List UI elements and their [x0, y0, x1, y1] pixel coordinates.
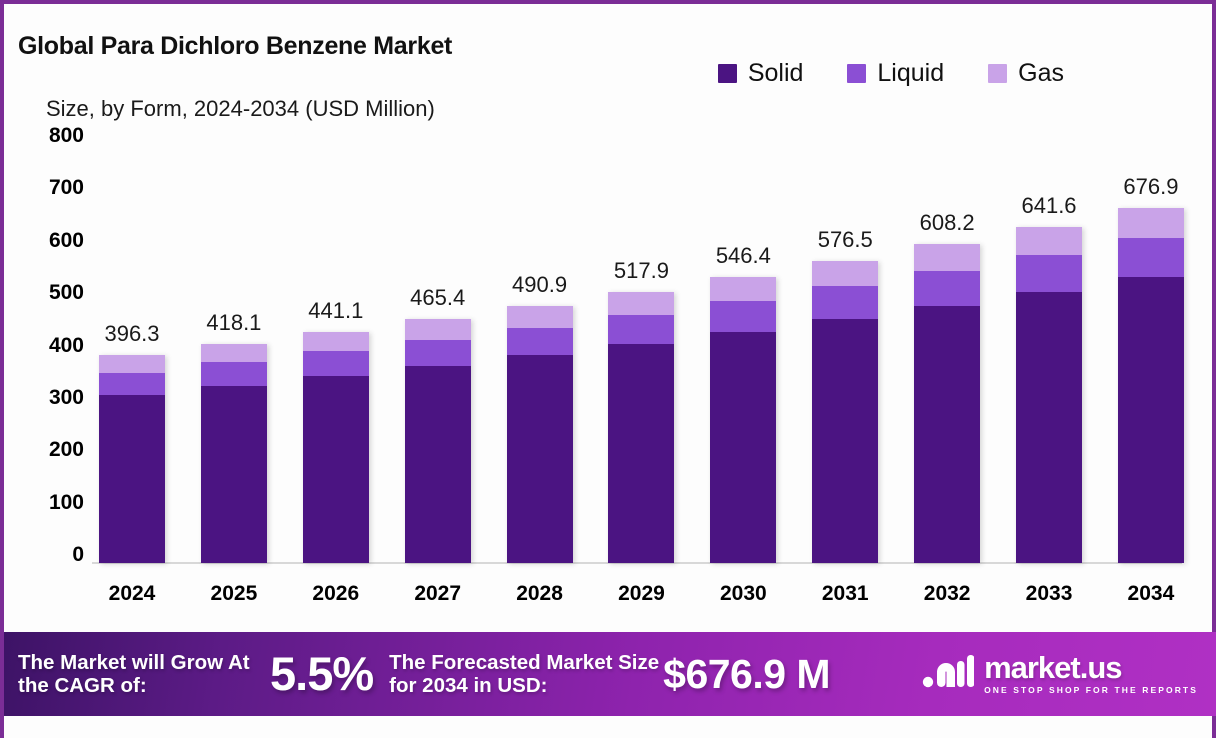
- x-axis-tick-2031: 2031: [812, 582, 878, 606]
- legend-label: Gas: [1018, 59, 1064, 88]
- x-axis-tick-2029: 2029: [608, 582, 674, 606]
- bar-stack[interactable]: [507, 306, 573, 563]
- bar-segment-solid[interactable]: [201, 386, 267, 563]
- cagr-value: 5.5%: [270, 647, 373, 700]
- bar-segment-solid[interactable]: [812, 319, 878, 563]
- bar-segment-liquid[interactable]: [405, 340, 471, 366]
- y-axis-tick: 300: [49, 386, 84, 410]
- bar-segment-liquid[interactable]: [608, 315, 674, 344]
- legend-item-liquid[interactable]: Liquid: [847, 59, 944, 88]
- legend-item-solid[interactable]: Solid: [718, 59, 804, 88]
- y-axis: 8007006005004003002001000: [4, 136, 84, 568]
- bar-segment-liquid[interactable]: [914, 271, 980, 305]
- bar-segment-liquid[interactable]: [812, 286, 878, 319]
- bar-segment-gas[interactable]: [405, 319, 471, 339]
- logo-text: market.us ONE STOP SHOP FOR THE REPORTS: [984, 652, 1198, 695]
- y-axis-tick: 400: [49, 334, 84, 358]
- bar-segment-gas[interactable]: [507, 306, 573, 328]
- infographic-frame: Global Para Dichloro Benzene Market Size…: [0, 0, 1216, 738]
- legend-label: Liquid: [877, 59, 944, 88]
- bar-total-label: 490.9: [512, 272, 567, 298]
- bar-stack[interactable]: [710, 277, 776, 563]
- bar-column-2028[interactable]: 490.9: [507, 144, 573, 563]
- y-axis-tick: 500: [49, 281, 84, 305]
- bar-total-label: 676.9: [1123, 174, 1178, 200]
- bar-segment-liquid[interactable]: [201, 362, 267, 386]
- bar-stack[interactable]: [405, 319, 471, 563]
- x-axis: 2024202520262027202820292030203120322033…: [99, 582, 1184, 606]
- x-axis-tick-2030: 2030: [710, 582, 776, 606]
- bar-stack[interactable]: [99, 355, 165, 563]
- bar-segment-solid[interactable]: [1118, 277, 1184, 563]
- bar-segment-solid[interactable]: [914, 306, 980, 563]
- bar-stack[interactable]: [608, 292, 674, 563]
- page-subtitle: Size, by Form, 2024-2034 (USD Million): [46, 96, 435, 122]
- legend-item-gas[interactable]: Gas: [988, 59, 1064, 88]
- legend-swatch-solid: [718, 64, 737, 83]
- bar-chart-logo-icon: [922, 651, 974, 696]
- market-us-logo: market.us ONE STOP SHOP FOR THE REPORTS: [922, 651, 1198, 696]
- bar-column-2024[interactable]: 396.3: [99, 144, 165, 563]
- bar-stack[interactable]: [1118, 208, 1184, 563]
- x-axis-tick-2028: 2028: [507, 582, 573, 606]
- bar-segment-liquid[interactable]: [507, 328, 573, 356]
- x-axis-tick-2033: 2033: [1016, 582, 1082, 606]
- y-axis-tick: 800: [49, 124, 84, 148]
- bar-segment-liquid[interactable]: [1118, 238, 1184, 276]
- bar-segment-gas[interactable]: [99, 355, 165, 372]
- bar-total-label: 608.2: [920, 210, 975, 236]
- bar-series-group: 396.3418.1441.1465.4490.9517.9546.4576.5…: [99, 144, 1184, 563]
- y-axis-tick: 100: [49, 491, 84, 515]
- bar-segment-liquid[interactable]: [1016, 255, 1082, 291]
- bar-column-2027[interactable]: 465.4: [405, 144, 471, 563]
- bar-stack[interactable]: [1016, 227, 1082, 563]
- y-axis-tick: 0: [72, 543, 84, 567]
- chart-legend: SolidLiquidGas: [718, 59, 1064, 88]
- bar-column-2034[interactable]: 676.9: [1118, 144, 1184, 563]
- bar-segment-solid[interactable]: [507, 355, 573, 563]
- bar-segment-liquid[interactable]: [303, 351, 369, 376]
- x-axis-tick-2026: 2026: [303, 582, 369, 606]
- bar-segment-gas[interactable]: [303, 332, 369, 351]
- bar-column-2033[interactable]: 641.6: [1016, 144, 1082, 563]
- y-axis-tick: 700: [49, 176, 84, 200]
- bar-total-label: 517.9: [614, 258, 669, 284]
- bar-segment-solid[interactable]: [1016, 292, 1082, 564]
- bar-segment-liquid[interactable]: [710, 301, 776, 332]
- bar-segment-gas[interactable]: [201, 344, 267, 362]
- logo-name: market.us: [984, 652, 1198, 683]
- bar-segment-solid[interactable]: [608, 344, 674, 563]
- bar-total-label: 546.4: [716, 243, 771, 269]
- bar-total-label: 418.1: [206, 310, 261, 336]
- bar-stack[interactable]: [303, 332, 369, 563]
- forecast-label: The Forecasted Market Size for 2034 in U…: [389, 651, 661, 697]
- legend-label: Solid: [748, 59, 804, 88]
- bar-column-2029[interactable]: 517.9: [608, 144, 674, 563]
- y-axis-tick: 600: [49, 229, 84, 253]
- cagr-label: The Market will Grow At the CAGR of:: [18, 651, 268, 697]
- bar-segment-solid[interactable]: [303, 376, 369, 563]
- bar-segment-gas[interactable]: [608, 292, 674, 315]
- page-title: Global Para Dichloro Benzene Market: [18, 32, 452, 61]
- bar-column-2025[interactable]: 418.1: [201, 144, 267, 563]
- forecast-value: $676.9 M: [663, 651, 830, 697]
- bar-segment-gas[interactable]: [1118, 208, 1184, 238]
- x-axis-tick-2025: 2025: [201, 582, 267, 606]
- bar-column-2026[interactable]: 441.1: [303, 144, 369, 563]
- bar-segment-gas[interactable]: [914, 244, 980, 271]
- x-axis-tick-2024: 2024: [99, 582, 165, 606]
- bar-stack[interactable]: [201, 344, 267, 563]
- bar-stack[interactable]: [812, 261, 878, 563]
- x-axis-tick-2027: 2027: [405, 582, 471, 606]
- legend-swatch-liquid: [847, 64, 866, 83]
- bar-total-label: 396.3: [104, 321, 159, 347]
- bar-segment-solid[interactable]: [405, 366, 471, 563]
- bar-total-label: 465.4: [410, 285, 465, 311]
- bar-column-2030[interactable]: 546.4: [710, 144, 776, 563]
- x-axis-tick-2034: 2034: [1118, 582, 1184, 606]
- bar-total-label: 441.1: [308, 298, 363, 324]
- bar-segment-gas[interactable]: [812, 261, 878, 286]
- bar-segment-solid[interactable]: [99, 395, 165, 563]
- bar-segment-solid[interactable]: [710, 332, 776, 563]
- bar-column-2031[interactable]: 576.5: [812, 144, 878, 563]
- bar-segment-gas[interactable]: [710, 277, 776, 301]
- y-axis-tick: 200: [49, 438, 84, 462]
- logo-tagline: ONE STOP SHOP FOR THE REPORTS: [984, 686, 1198, 695]
- bar-column-2032[interactable]: 608.2: [914, 144, 980, 563]
- bar-segment-gas[interactable]: [1016, 227, 1082, 255]
- bar-segment-liquid[interactable]: [99, 373, 165, 395]
- x-axis-tick-2032: 2032: [914, 582, 980, 606]
- legend-swatch-gas: [988, 64, 1007, 83]
- bar-stack[interactable]: [914, 244, 980, 563]
- bar-total-label: 576.5: [818, 227, 873, 253]
- bar-total-label: 641.6: [1021, 193, 1076, 219]
